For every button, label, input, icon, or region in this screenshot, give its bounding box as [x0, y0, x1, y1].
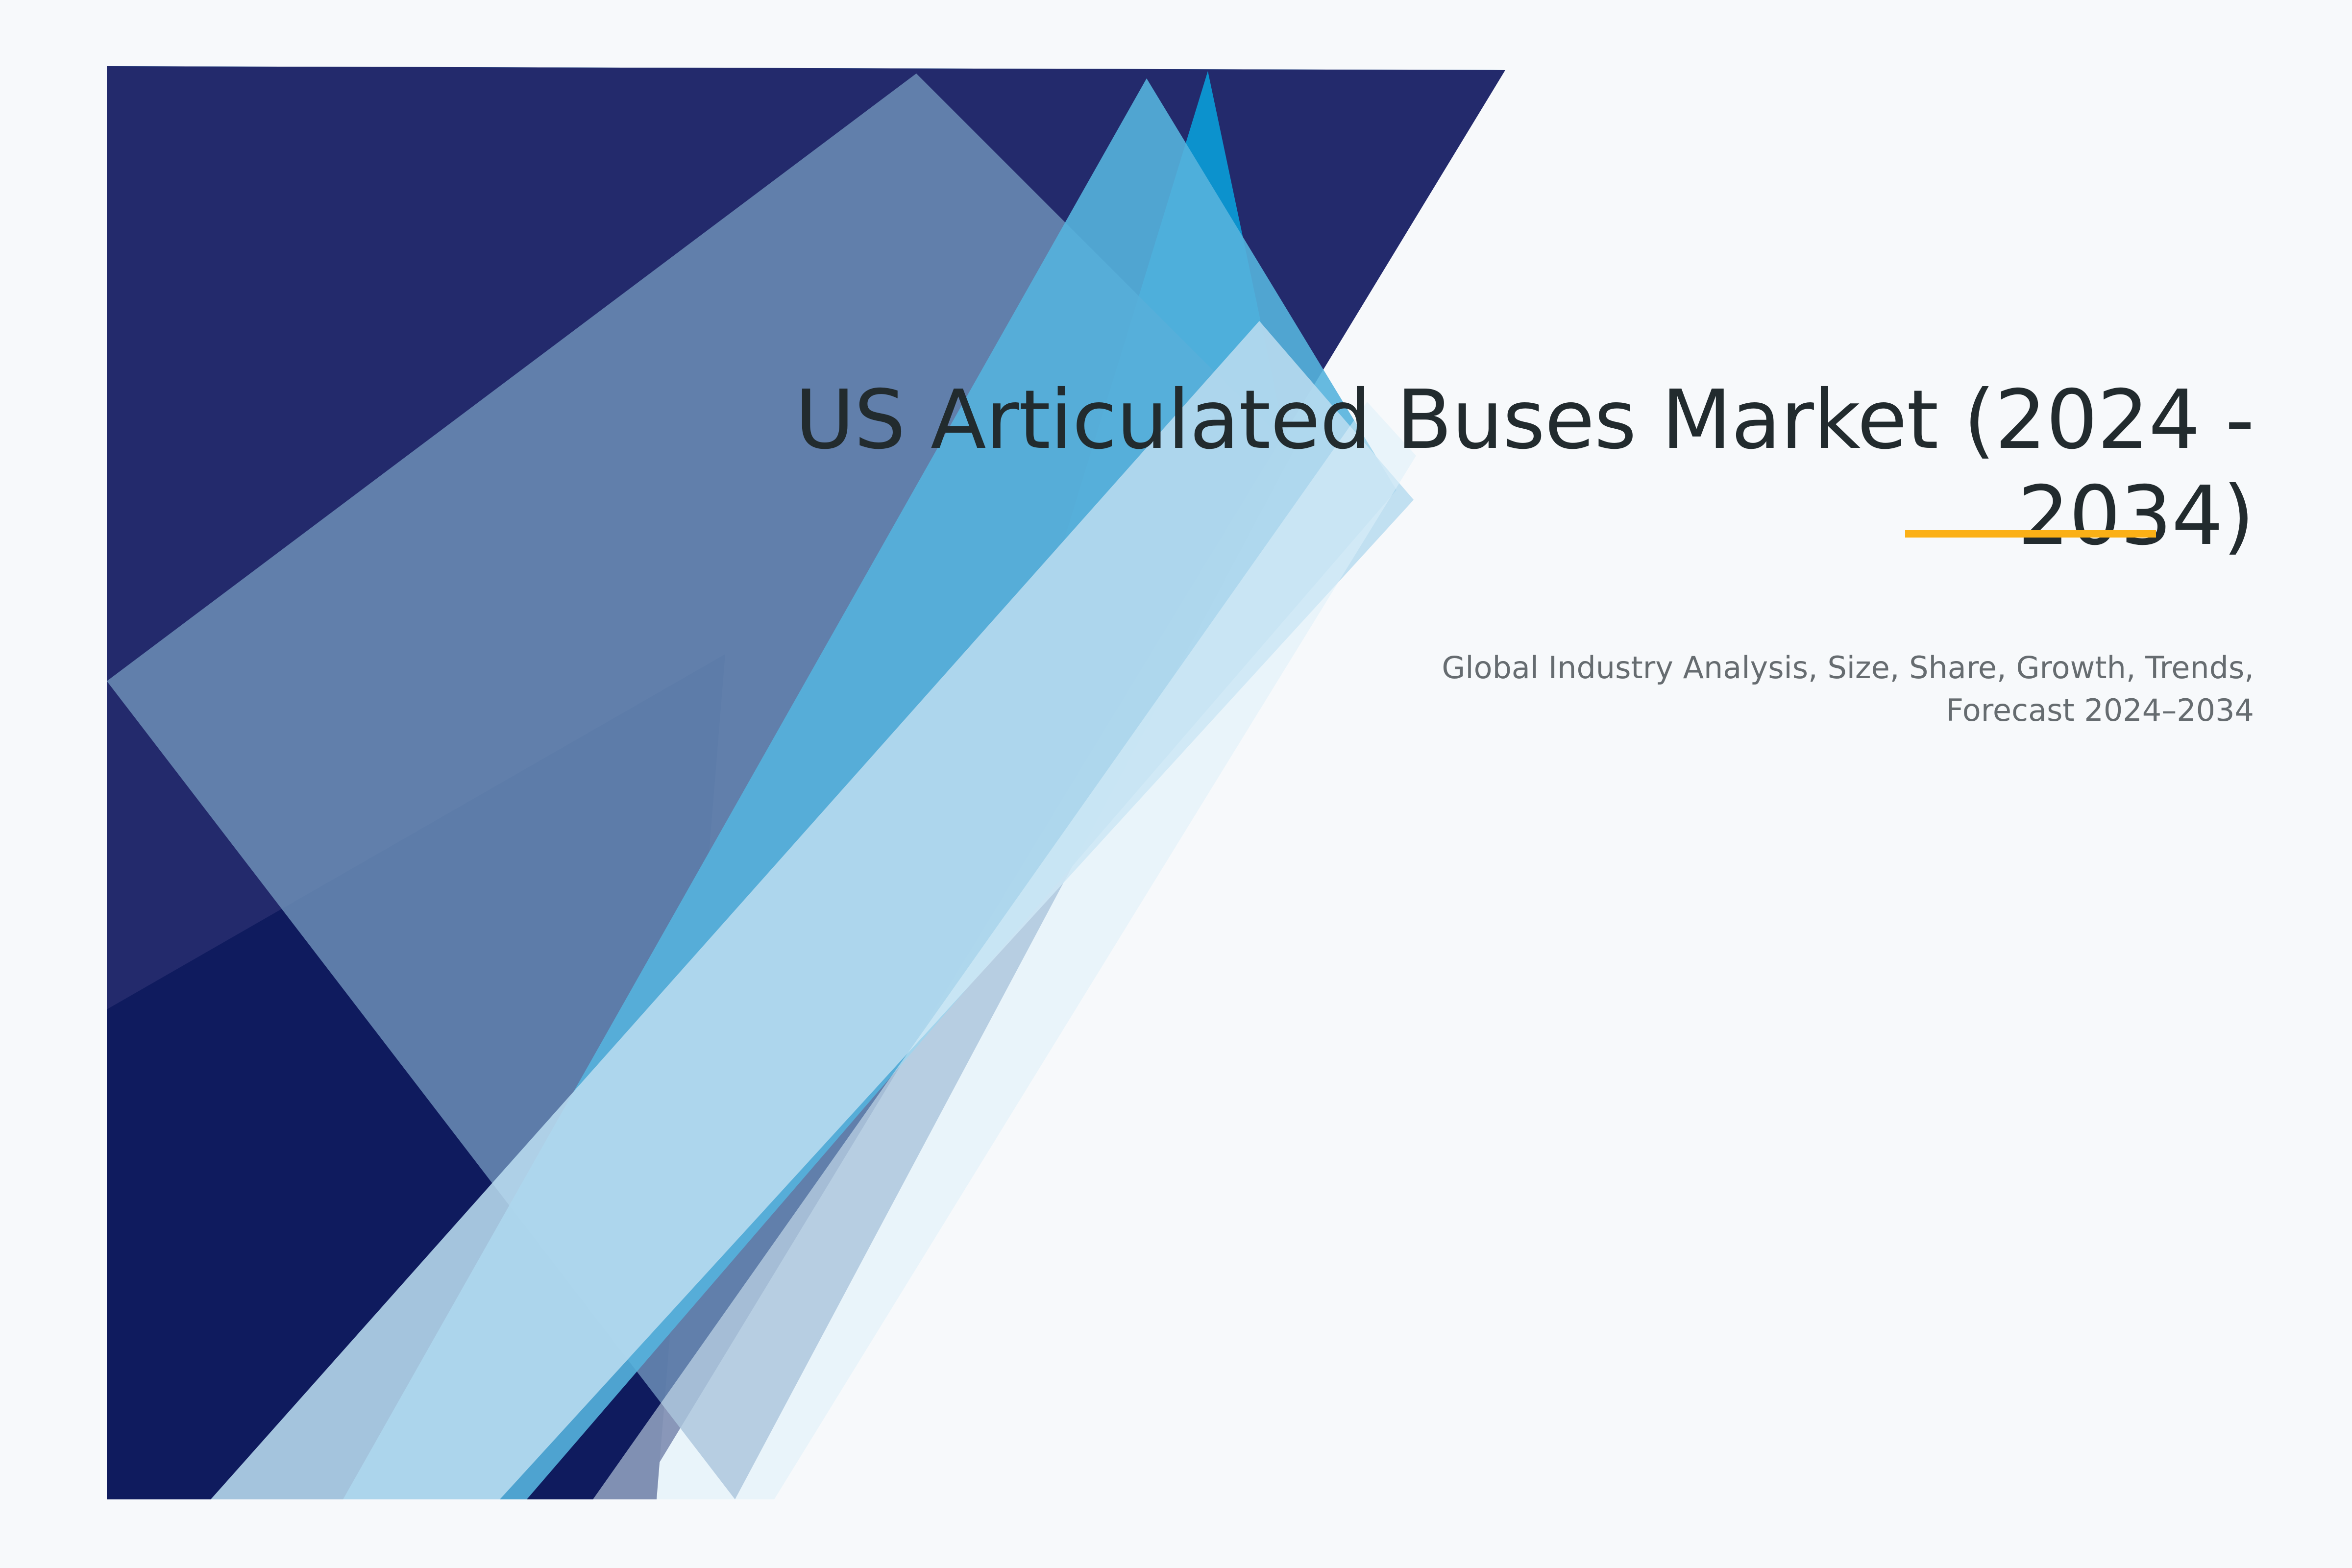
- cover-title-block: US Articulated Buses Market (2024 - 2034…: [764, 372, 2254, 564]
- shape-deep-navy-left-column: [107, 654, 725, 1499]
- cover-subtitle: Global Industry Analysis, Size, Share, G…: [1421, 647, 2254, 732]
- title-accent-underline: [1905, 530, 2156, 538]
- shape-frost-right-highlight: [593, 402, 1416, 1499]
- shape-sky-blue-diagonal-band: [343, 78, 1396, 1499]
- abstract-geometric-artwork: [0, 0, 2352, 1568]
- shape-navy-upper-wedge: [107, 66, 1505, 1499]
- shape-steel-blue-large-panel: [107, 73, 1294, 1499]
- cover-subtitle-block: Global Industry Analysis, Size, Share, G…: [1421, 647, 2254, 732]
- report-cover-slide: US Articulated Buses Market (2024 - 2034…: [0, 0, 2352, 1568]
